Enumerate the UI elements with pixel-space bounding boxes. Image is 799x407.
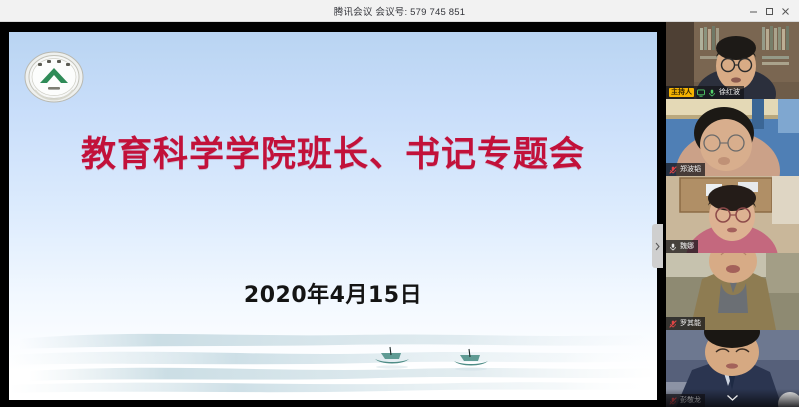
participant-video-panel[interactable]: 主持人 徐红波 bbox=[666, 22, 799, 407]
host-badge: 主持人 bbox=[669, 88, 694, 97]
slide-title: 教育科学学院班长、书记专题会 bbox=[9, 136, 657, 175]
participant-name: 徐红波 bbox=[719, 89, 740, 96]
participant-tile[interactable]: 罗其能 bbox=[666, 253, 799, 330]
participant-name: 罗其能 bbox=[680, 320, 701, 327]
chevron-down-icon bbox=[726, 394, 739, 402]
microphone-muted-icon bbox=[669, 166, 677, 174]
close-icon[interactable] bbox=[777, 0, 793, 22]
screen-share-icon bbox=[697, 89, 705, 97]
maximize-icon[interactable] bbox=[761, 0, 777, 22]
microphone-icon bbox=[708, 89, 716, 97]
tencent-meeting-window: 腾讯会议 会议号: 579 745 851 bbox=[0, 0, 799, 407]
ink-wash-water-decoration bbox=[9, 305, 657, 400]
participant-label: 主持人 徐红波 bbox=[666, 86, 744, 99]
participant-name: 魏娜 bbox=[680, 243, 694, 250]
microphone-muted-icon bbox=[669, 320, 677, 328]
chevron-right-icon bbox=[655, 242, 660, 251]
minimize-icon[interactable] bbox=[745, 0, 761, 22]
participant-tile[interactable]: 彭敬龙 bbox=[666, 330, 799, 407]
shared-screen-slide[interactable]: 教育科学学院班长、书记专题会 2020年4月15日 bbox=[9, 32, 657, 400]
window-title-text: 腾讯会议 会议号: 579 745 851 bbox=[334, 4, 465, 18]
window-title-bar: 腾讯会议 会议号: 579 745 851 bbox=[0, 0, 799, 22]
university-seal-logo bbox=[23, 50, 85, 104]
collapse-panel-handle[interactable] bbox=[652, 224, 663, 268]
participant-label: 罗其能 bbox=[666, 317, 705, 330]
window-controls bbox=[745, 0, 799, 22]
microphone-icon bbox=[669, 243, 677, 251]
scroll-down-button[interactable] bbox=[666, 389, 799, 407]
participant-name: 郑波韬 bbox=[680, 166, 701, 173]
participant-label: 郑波韬 bbox=[666, 163, 705, 176]
participant-tile[interactable]: 郑波韬 bbox=[666, 99, 799, 176]
participant-tile[interactable]: 魏娜 bbox=[666, 176, 799, 253]
participant-tile[interactable]: 主持人 徐红波 bbox=[666, 22, 799, 99]
participant-label: 魏娜 bbox=[666, 240, 698, 253]
